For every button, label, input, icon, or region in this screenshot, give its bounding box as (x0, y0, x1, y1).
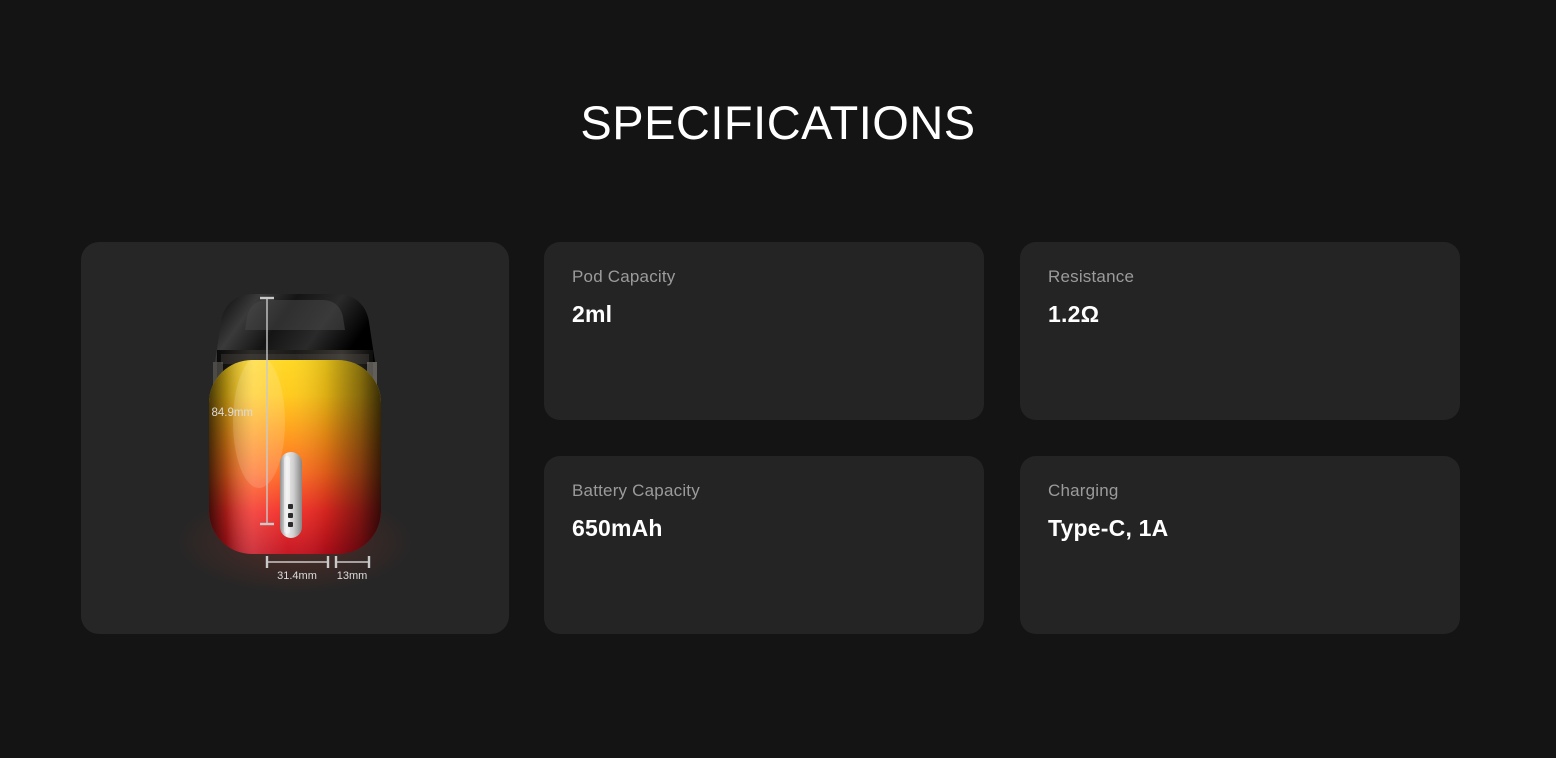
product-image-stage: 84.9mm 31.4mm 13mm (81, 242, 509, 634)
spec-card-charging: Charging Type-C, 1A (1020, 456, 1460, 634)
spec-value: 2ml (572, 300, 956, 329)
dimension-depth-label: 13mm (337, 570, 368, 582)
spec-card-pod-capacity: Pod Capacity 2ml (544, 242, 984, 420)
spec-label: Charging (1048, 480, 1432, 502)
spec-card-resistance: Resistance 1.2Ω (1020, 242, 1460, 420)
dimension-height-label: 84.9mm (211, 407, 253, 419)
spec-value: 1.2Ω (1048, 300, 1432, 329)
specs-grid: 84.9mm 31.4mm 13mm (81, 242, 1461, 634)
spec-label: Pod Capacity (572, 266, 956, 288)
spec-value: Type-C, 1A (1048, 514, 1432, 543)
spec-label: Battery Capacity (572, 480, 956, 502)
product-image-card: 84.9mm 31.4mm 13mm (81, 242, 509, 634)
spec-value: 650mAh (572, 514, 956, 543)
spec-label: Resistance (1048, 266, 1432, 288)
page-title: SPECIFICATIONS (0, 97, 1556, 149)
spec-card-battery-capacity: Battery Capacity 650mAh (544, 456, 984, 634)
specifications-section: SPECIFICATIONS (0, 0, 1556, 758)
vape-pod-device-illustration: 84.9mm 31.4mm 13mm (81, 242, 509, 634)
dimension-width-label: 31.4mm (277, 570, 317, 582)
